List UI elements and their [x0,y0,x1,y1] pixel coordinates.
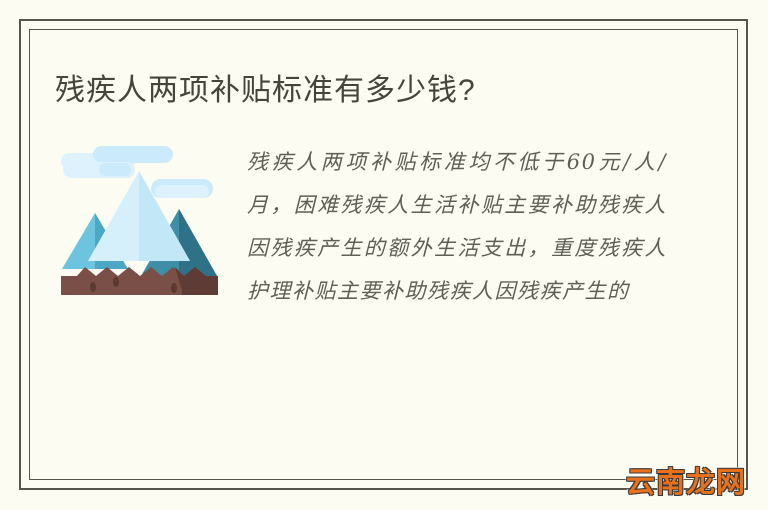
article-page: 残疾人两项补贴标准有多少钱? [0,0,768,510]
mountain-base [61,267,218,295]
article-body-text: 残疾人两项补贴标准均不低于60元/人/月，困难残疾人生活补贴主要补助残疾人因残疾… [247,141,667,313]
article-content-row: 残疾人两项补贴标准均不低于60元/人/月，困难残疾人生活补贴主要补助残疾人因残疾… [55,141,712,316]
snow-mountain-illustration [55,141,225,316]
article-container: 残疾人两项补贴标准有多少钱? [29,29,738,480]
page-title: 残疾人两项补贴标准有多少钱? [55,71,476,111]
mountain-illustration-svg [55,141,225,316]
site-watermark: 云南龙网 [626,469,746,498]
